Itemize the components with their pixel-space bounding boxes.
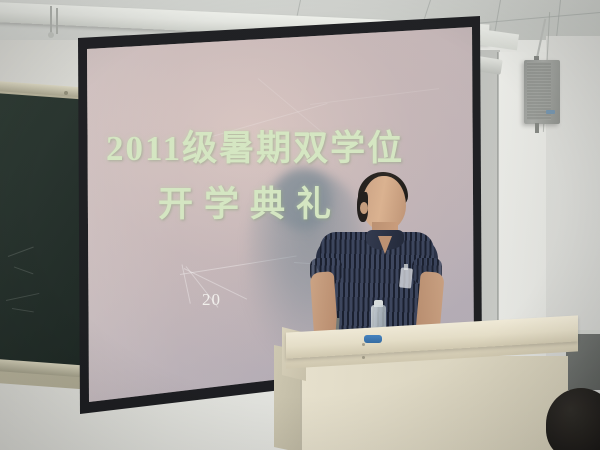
podium-screw — [362, 343, 365, 346]
podium-front-panel — [300, 356, 568, 450]
hanger-rod-tip — [48, 32, 54, 38]
podium-screw — [362, 356, 365, 359]
blackboard — [0, 93, 80, 372]
speaker-brand-badge — [546, 110, 555, 114]
speaker-mount-stem — [535, 123, 539, 133]
presenter-id-badge — [399, 267, 413, 288]
rail-screw — [64, 91, 68, 95]
ceiling-hanger-rod — [50, 6, 52, 34]
slide-title-line-1: 2011级暑期双学位 — [106, 120, 456, 171]
chalk-mark — [8, 247, 34, 257]
classroom-scene: 2011级暑期双学位 开学典礼 20 — [0, 0, 600, 450]
chalk-mark — [14, 266, 34, 274]
slide-title-line-2: 开学典礼 — [158, 176, 478, 227]
presenter-ear — [360, 202, 368, 214]
slide-date-text: 20 — [202, 290, 221, 310]
ceiling-hanger-rod — [56, 8, 58, 34]
presenter-arm-left — [310, 271, 339, 339]
blue-object-on-podium — [364, 335, 382, 343]
